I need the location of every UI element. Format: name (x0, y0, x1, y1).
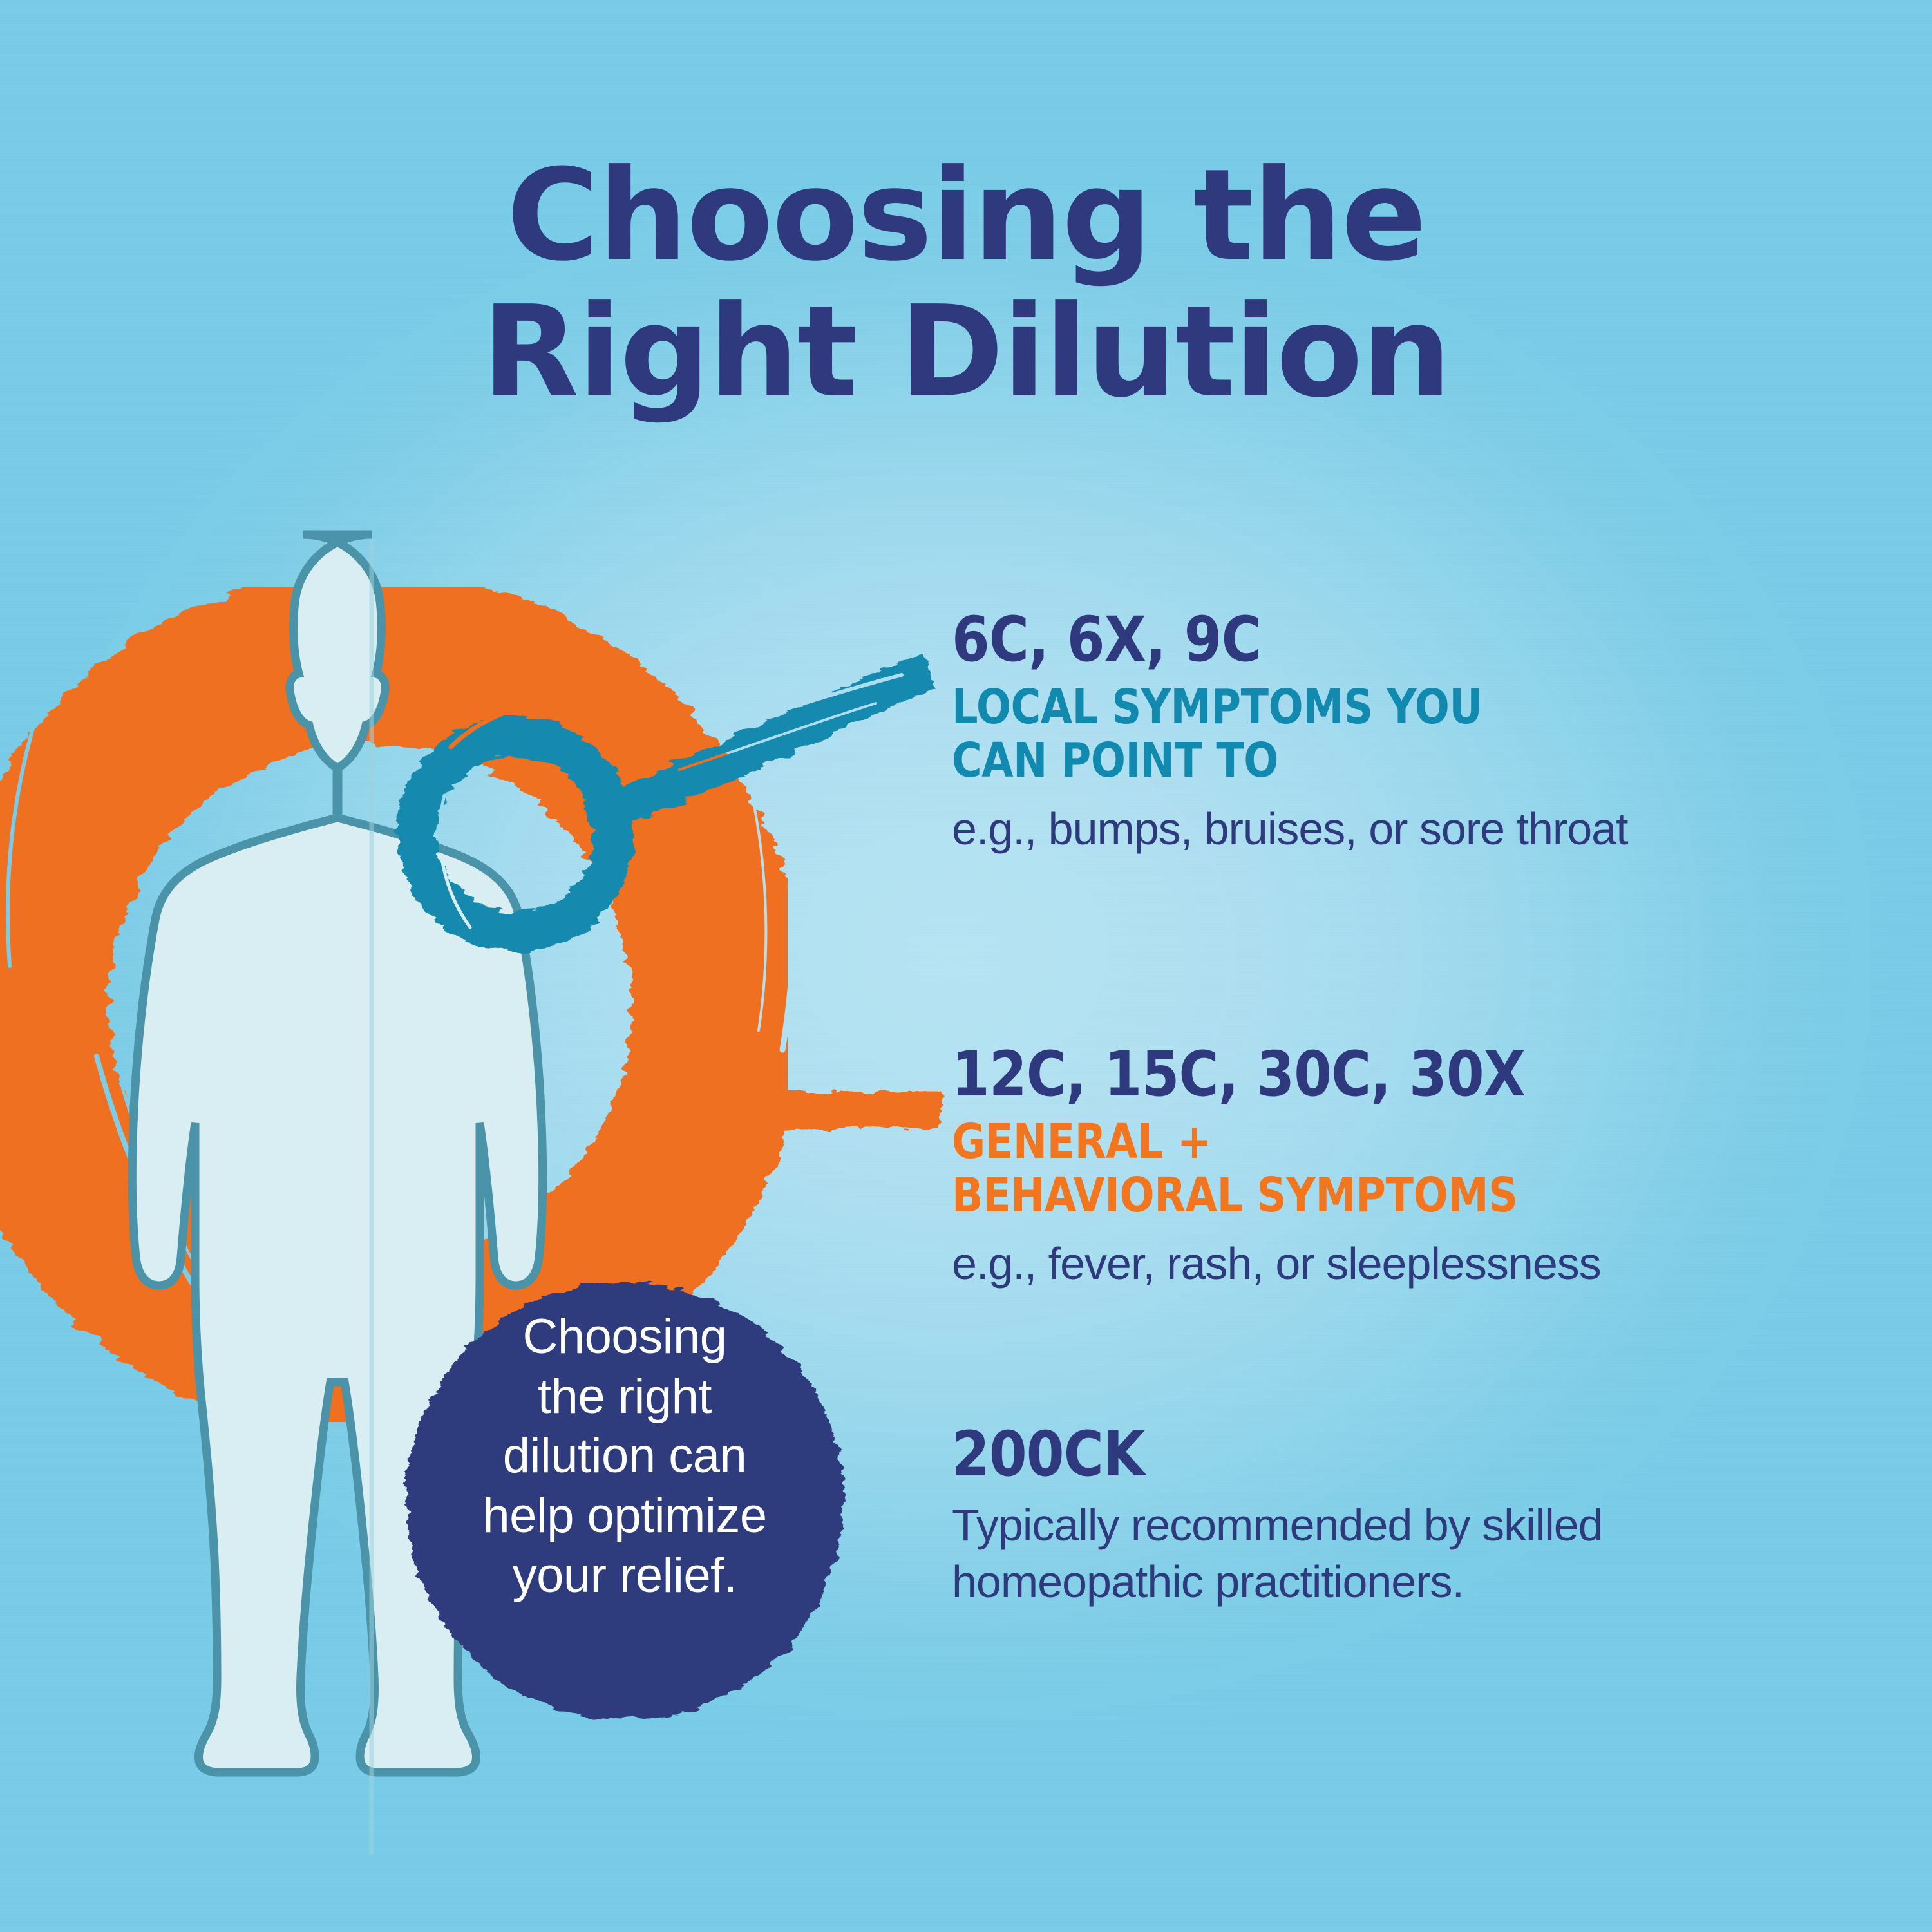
badge-line-4: help optimize (425, 1486, 824, 1546)
dilution-block-general: 12C, 15C, 30C, 30X GENERAL + BEHAVIORAL … (952, 1043, 1879, 1291)
dilution-block-local: 6C, 6X, 9C LOCAL SYMPTOMS YOU CAN POINT … (952, 609, 1879, 856)
dilution-label-2: 12C, 15C, 30C, 30X (952, 1043, 1768, 1106)
dilution-block-practitioner: 200CK Typically recommended by skilled h… (952, 1423, 1879, 1610)
dilution-label-3: 200CK (952, 1423, 1768, 1486)
dilution-kicker-1: LOCAL SYMPTOMS YOU CAN POINT TO (952, 681, 1749, 788)
kicker-line-1b: CAN POINT TO (952, 734, 1749, 788)
dilution-kicker-2: GENERAL + BEHAVIORAL SYMPTOMS (952, 1115, 1749, 1222)
kicker-line-2a: GENERAL + (952, 1115, 1749, 1169)
badge-line-3: dilution can (425, 1426, 824, 1486)
badge-line-1: Choosing (425, 1307, 824, 1367)
dilution-example-2: e.g., fever, rash, or sleeplessness (952, 1236, 1879, 1291)
content-layer: Choosing the Right Dilution 6C, 6X, 9C L… (0, 0, 1932, 1932)
title-line-1: Choosing the (507, 142, 1426, 289)
desc-line-3a: Typically recommended by skilled (952, 1497, 1853, 1553)
badge-callout-text: Choosing the right dilution can help opt… (425, 1307, 824, 1606)
page-title: Choosing the Right Dilution (386, 148, 1546, 421)
kicker-line-1a: LOCAL SYMPTOMS YOU (952, 681, 1749, 734)
kicker-line-2b: BEHAVIORAL SYMPTOMS (952, 1169, 1749, 1222)
desc-line-3b: homeopathic practitioners. (952, 1553, 1853, 1610)
dilution-example-1: e.g., bumps, bruises, or sore throat (952, 802, 1879, 856)
dilution-description-3: Typically recommended by skilled homeopa… (952, 1497, 1853, 1610)
badge-line-2: the right (425, 1367, 824, 1427)
title-line-2: Right Dilution (386, 285, 1546, 421)
badge-line-5: your relief. (425, 1546, 824, 1606)
dilution-label-1: 6C, 6X, 9C (952, 609, 1768, 672)
